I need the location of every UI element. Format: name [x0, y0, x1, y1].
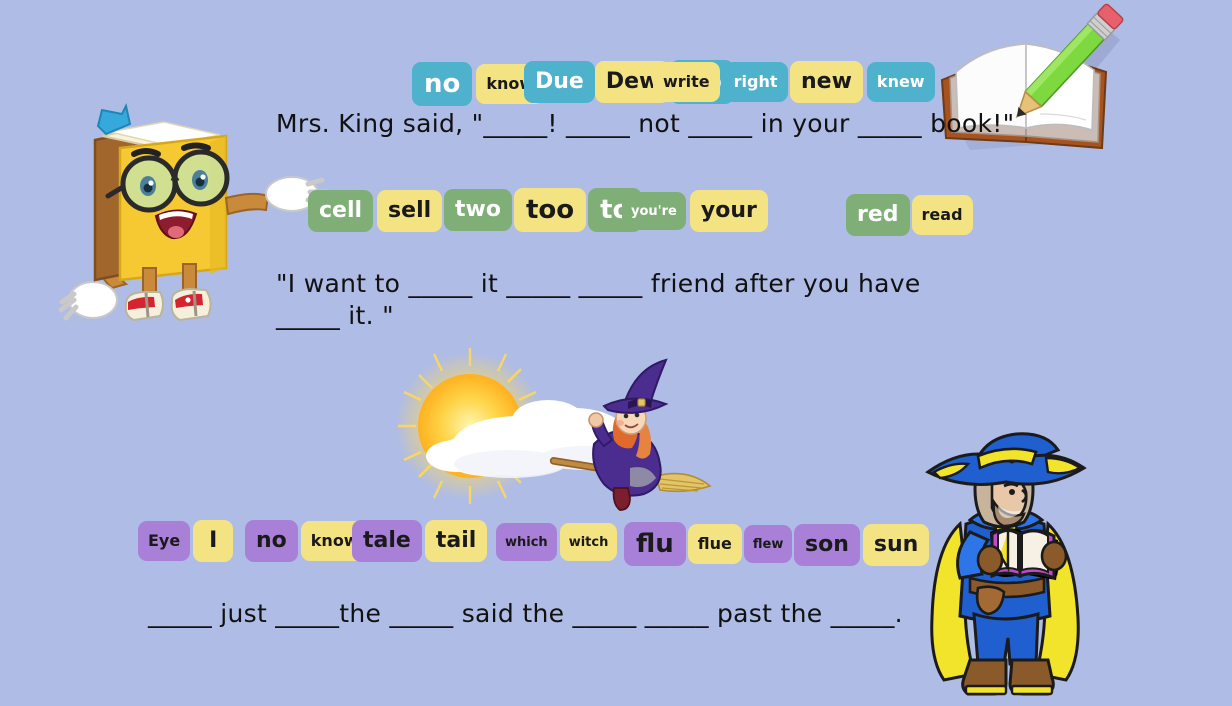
word-tile-new[interactable]: new — [790, 61, 863, 103]
tile-group-son-sun: son sun — [794, 524, 929, 566]
tile-group-youre-your: you're your — [622, 190, 768, 232]
word-tile-flu[interactable]: flu — [624, 522, 686, 566]
book-mascot-illustration — [60, 88, 310, 338]
word-tile-too[interactable]: too — [514, 188, 586, 232]
word-tile-i[interactable]: I — [193, 520, 233, 562]
sentence-exercise-2: "I want to _____ it _____ _____ friend a… — [276, 268, 982, 332]
tile-group-cell-sell: cell sell — [308, 190, 442, 232]
tile-group-two-too-to: two too to — [444, 188, 642, 232]
tile-group-which-witch: which witch — [496, 523, 617, 561]
tile-group-eye-i: Eye I — [138, 520, 233, 562]
word-tile-sell[interactable]: sell — [377, 190, 442, 232]
word-tile-youre[interactable]: you're — [622, 192, 686, 230]
sentence-exercise-3: _____ just _____the _____ said the _____… — [148, 598, 908, 630]
sentence-exercise-1: Mrs. King said, "_____! _____ not _____ … — [276, 108, 1016, 140]
word-tile-due[interactable]: Due — [524, 61, 595, 103]
word-tile-flew[interactable]: flew — [744, 525, 792, 563]
word-tile-sun[interactable]: sun — [863, 524, 929, 566]
word-tile-read[interactable]: read — [912, 195, 973, 235]
word-tile-red[interactable]: red — [846, 194, 910, 236]
word-tile-cell[interactable]: cell — [308, 190, 373, 232]
word-tile-eye[interactable]: Eye — [138, 521, 190, 561]
tile-group-new-knew: new knew — [790, 61, 935, 103]
word-tile-no[interactable]: no — [412, 62, 472, 106]
wizard-reading-book-illustration — [908, 428, 1103, 706]
word-tile-your[interactable]: your — [690, 190, 768, 232]
word-tile-which[interactable]: which — [496, 523, 557, 561]
tile-group-flu-flue-flew: flu flue flew — [624, 522, 792, 566]
tile-group-red-read: red read — [846, 194, 973, 236]
word-tile-flue[interactable]: flue — [688, 524, 742, 564]
word-tile-witch[interactable]: witch — [560, 523, 618, 561]
tile-group-write-right: write right — [653, 62, 788, 102]
worksheet-canvas: no know Due Dew Do write right new knew … — [0, 0, 1232, 706]
tile-group-tale-tail: tale tail — [352, 520, 487, 562]
word-tile-son[interactable]: son — [794, 524, 860, 566]
tile-group-no-know-2: no know — [245, 520, 369, 562]
word-tile-tail[interactable]: tail — [425, 520, 487, 562]
word-tile-knew[interactable]: knew — [867, 62, 935, 102]
witch-flying-past-sun-illustration — [398, 348, 743, 513]
word-tile-write[interactable]: write — [653, 62, 720, 102]
word-tile-two[interactable]: two — [444, 189, 512, 231]
word-tile-no-2[interactable]: no — [245, 520, 298, 562]
word-tile-tale[interactable]: tale — [352, 520, 422, 562]
word-tile-right[interactable]: right — [724, 62, 788, 102]
